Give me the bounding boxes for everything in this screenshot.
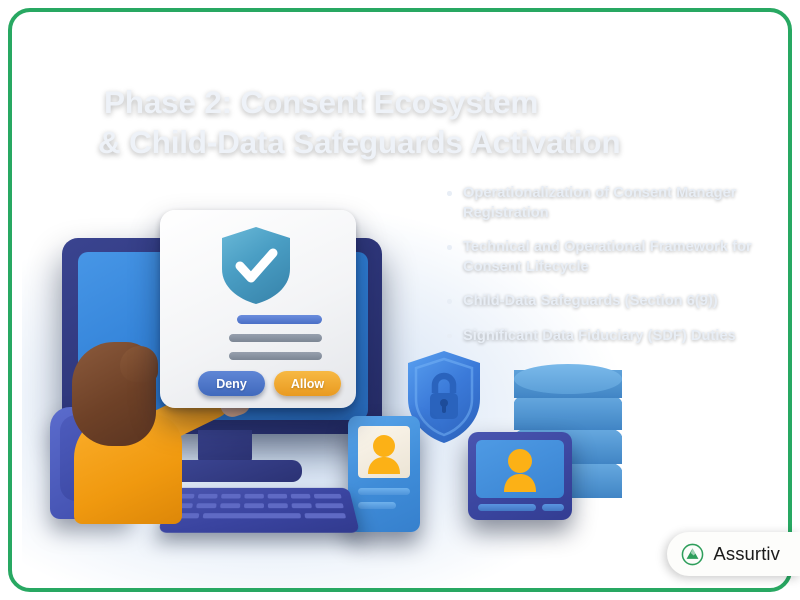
title-line-1: Phase 2: Consent Ecosystem [104, 84, 538, 120]
id-card-icon [348, 416, 420, 532]
list-item: Operationalization of Consent Manager Re… [443, 184, 788, 223]
person-avatar-icon [366, 434, 402, 474]
brand-name: Assurtiv [713, 543, 780, 565]
brand-logo[interactable]: Assurtiv [667, 532, 800, 576]
consent-text-line [237, 315, 322, 324]
list-item: Child-Data Safeguards (Section 6(9)) [443, 292, 788, 312]
assurtiv-mountain-icon [681, 543, 704, 566]
title-line-2: & Child-Data Safeguards Activation [98, 122, 724, 162]
id-card-icon [468, 432, 572, 520]
person-hair-front [120, 346, 158, 382]
person-avatar-icon [502, 448, 538, 492]
allow-button[interactable]: Allow [274, 371, 341, 396]
slide-canvas: Deny Allow Phase 2: Consent Ecosystem & … [12, 12, 788, 588]
list-item: Significant Data Fiduciary (SDF) Duties [443, 327, 788, 347]
list-item-label: Operationalization of Consent Manager Re… [463, 185, 736, 221]
bullet-list: Operationalization of Consent Manager Re… [443, 184, 788, 361]
page-title: Phase 2: Consent Ecosystem & Child-Data … [104, 82, 724, 162]
monitor-neck [198, 430, 252, 464]
consent-text-line [229, 334, 322, 342]
list-item-label: Technical and Operational Framework for … [463, 239, 752, 275]
list-item-label: Child-Data Safeguards (Section 6(9)) [463, 293, 718, 309]
deny-button[interactable]: Deny [198, 371, 265, 396]
list-item-label: Significant Data Fiduciary (SDF) Duties [463, 328, 736, 344]
keyboard-icon [158, 488, 360, 533]
bullet-dot-icon [447, 245, 452, 250]
list-item: Technical and Operational Framework for … [443, 238, 788, 277]
bullet-dot-icon [447, 191, 452, 196]
bullet-dot-icon [447, 299, 452, 304]
slide-root: Deny Allow Phase 2: Consent Ecosystem & … [0, 0, 800, 600]
bullet-dot-icon [447, 334, 452, 339]
shield-check-icon [219, 225, 293, 305]
consent-text-line [229, 352, 322, 360]
